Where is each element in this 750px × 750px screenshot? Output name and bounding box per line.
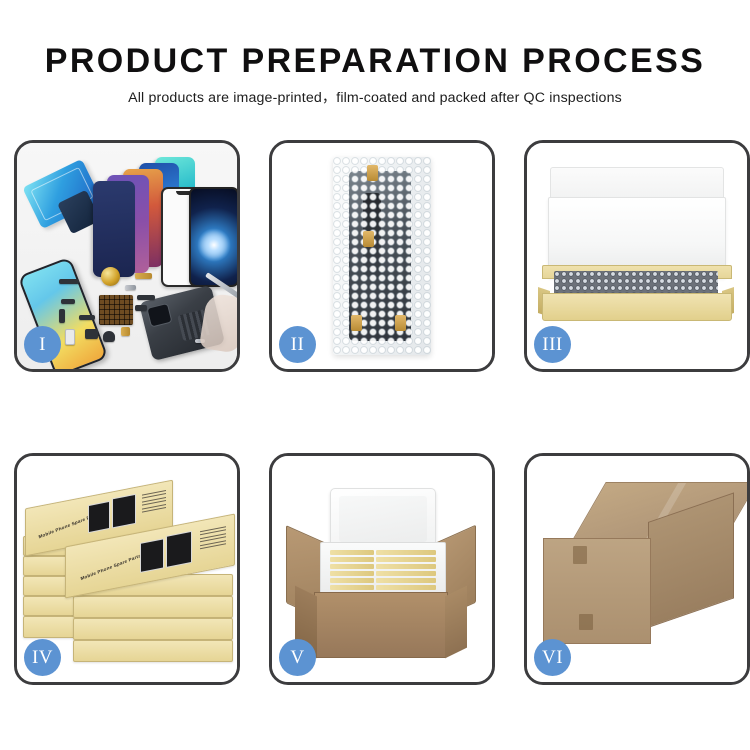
page-title: PRODUCT PREPARATION PROCESS bbox=[0, 44, 750, 78]
step-badge-3: III bbox=[534, 326, 571, 363]
part-connector-icon bbox=[59, 309, 65, 323]
box-edge bbox=[73, 618, 233, 640]
part-cable-icon bbox=[61, 299, 75, 304]
step-badge-4: IV bbox=[24, 639, 61, 676]
part-antenna-icon bbox=[79, 315, 95, 320]
box-label-spec-lines bbox=[200, 526, 226, 551]
bubble-bag-group bbox=[333, 157, 431, 355]
box-label-product-image bbox=[88, 501, 110, 533]
box-label-product-image bbox=[166, 531, 192, 568]
process-step-5: V bbox=[269, 453, 495, 685]
box-edge bbox=[73, 640, 233, 662]
lcd-glow-icon bbox=[197, 228, 231, 262]
step-badge-1: I bbox=[24, 326, 61, 363]
kraft-boxes-row-right bbox=[376, 550, 436, 592]
part-chip-icon bbox=[135, 305, 147, 311]
header: PRODUCT PREPARATION PROCESS All products… bbox=[0, 0, 750, 105]
carton-body-icon bbox=[314, 592, 448, 658]
part-flex-gold-icon bbox=[135, 273, 152, 279]
sealed-carton-group bbox=[543, 482, 733, 654]
process-step-1: I bbox=[14, 140, 240, 372]
part-sim-tray-icon bbox=[65, 329, 75, 345]
process-step-4: Mobile Phone Spare Parts Mobile Phone Sp… bbox=[14, 453, 240, 685]
part-receiver-icon bbox=[103, 331, 115, 342]
part-bracket-icon bbox=[125, 285, 136, 290]
tape-tab-icon bbox=[367, 165, 378, 181]
carton-tape-patch-icon bbox=[579, 614, 593, 630]
taptic-coil-icon bbox=[101, 267, 120, 286]
process-step-grid: I II bbox=[14, 140, 736, 685]
tape-tab-icon bbox=[395, 315, 406, 331]
phone-fan-group bbox=[93, 157, 233, 275]
lcd-assembly-icon bbox=[189, 187, 237, 287]
part-camera-icon bbox=[85, 329, 98, 339]
kraft-boxes-row-left bbox=[330, 550, 374, 592]
step-badge-2: II bbox=[279, 326, 316, 363]
carton-tape-patch-icon bbox=[573, 546, 587, 564]
box-label-spec-lines bbox=[142, 490, 166, 515]
part-screw-icon bbox=[121, 327, 130, 336]
screw-grid-icon bbox=[99, 295, 133, 325]
tape-tab-icon bbox=[351, 315, 362, 331]
part-flexcable-icon bbox=[137, 295, 155, 300]
kraft-tray-front-icon bbox=[542, 293, 732, 321]
step-badge-6: VI bbox=[534, 639, 571, 676]
box-edge bbox=[73, 596, 233, 618]
page-subtitle: All products are image-printed，film-coat… bbox=[0, 91, 750, 105]
open-carton-group bbox=[286, 480, 478, 656]
box-label-title: Mobile Phone Spare Parts bbox=[80, 553, 141, 581]
box-stack-group: Mobile Phone Spare Parts Mobile Phone Sp… bbox=[23, 474, 231, 664]
step-badge-5: V bbox=[279, 639, 316, 676]
carton-front-face-icon bbox=[543, 538, 651, 644]
process-step-3: III bbox=[524, 140, 750, 372]
open-box-group bbox=[538, 167, 734, 323]
product-preparation-process-page: PRODUCT PREPARATION PROCESS All products… bbox=[0, 0, 750, 750]
box-label-product-image bbox=[112, 494, 136, 529]
phone-navy-icon bbox=[93, 181, 135, 277]
box-label-product-image bbox=[140, 538, 164, 573]
process-step-2: II bbox=[269, 140, 495, 372]
process-step-6: VI bbox=[524, 453, 750, 685]
bubble-wrap-texture-icon bbox=[333, 157, 431, 355]
tape-tab-icon bbox=[363, 231, 374, 247]
part-speaker-icon bbox=[59, 279, 79, 284]
